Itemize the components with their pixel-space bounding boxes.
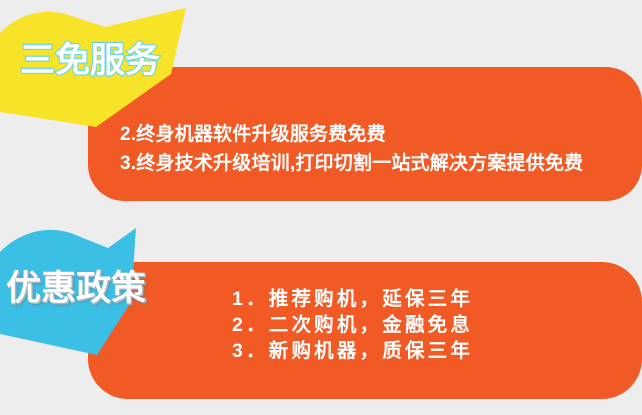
service-line-3: 3.终身技术升级培训,打印切割一站式解决方案提供免费 <box>120 149 583 178</box>
policy-line-3: 3．新购机器，质保三年 <box>232 338 473 364</box>
section-title-three-free-service: 三免服务 <box>20 40 160 82</box>
policy-line-1: 1．推荐购机，延保三年 <box>232 286 473 312</box>
policy-line-2: 2．二次购机，金融免息 <box>232 312 473 338</box>
policy-panel-bottom-text: 1．推荐购机，延保三年 2．二次购机，金融免息 3．新购机器，质保三年 <box>232 286 473 364</box>
section-title-preferential-policy: 优惠政策 <box>6 268 146 310</box>
poster-canvas: 三免服务 2.终身机器软件升级服务费免费 3.终身技术升级培训,打印切割一站式解… <box>0 0 642 415</box>
service-line-2: 2.终身机器软件升级服务费免费 <box>120 120 583 149</box>
service-panel-top-text: 2.终身机器软件升级服务费免费 3.终身技术升级培训,打印切割一站式解决方案提供… <box>120 120 583 178</box>
